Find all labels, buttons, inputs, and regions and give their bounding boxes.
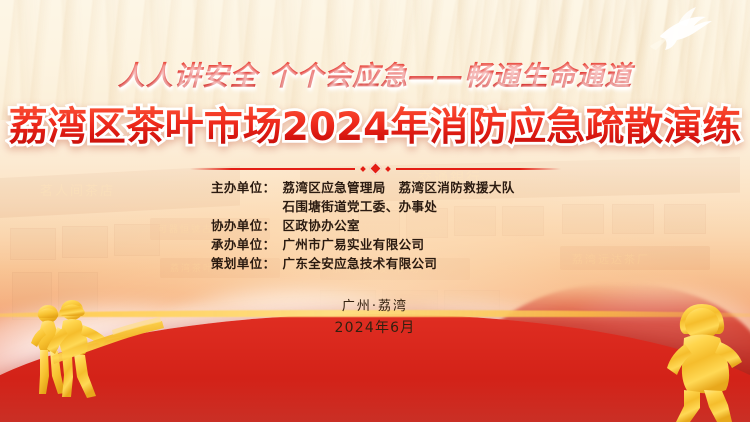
organizer-row: 协办单位： 区政协办公室 xyxy=(0,216,750,235)
organizer-value: 石围塘街道党工委、办事处 xyxy=(283,197,549,216)
organizer-label: 策划单位： xyxy=(202,254,276,273)
poster-main-title: 荔湾区茶叶市场2024年消防应急疏散演练 荔湾区茶叶市场2024年消防应急疏散演… xyxy=(0,96,750,152)
footer-block: 广州·荔湾 2024年6月 xyxy=(0,296,750,339)
organizer-row: 石围塘街道党工委、办事处 xyxy=(0,197,750,216)
poster-content: 人人讲安全 个个会应急——畅通生命通道 荔湾区茶叶市场2024年消防应急疏散演练… xyxy=(0,0,750,422)
organizer-label: 协办单位： xyxy=(202,216,276,235)
organizer-value: 荔湾区应急管理局 荔湾区消防救援大队 xyxy=(283,178,549,197)
organizer-row: 策划单位： 广东全安应急技术有限公司 xyxy=(0,254,750,273)
main-title-text: 荔湾区茶叶市场2024年消防应急疏散演练 xyxy=(9,105,742,150)
diamond-ornament-right-icon xyxy=(385,166,391,172)
organizer-value: 区政协办公室 xyxy=(283,216,549,235)
organizer-row: 承办单位： 广州市广易实业有限公司 xyxy=(0,235,750,254)
organizer-value: 广州市广易实业有限公司 xyxy=(283,235,549,254)
organizer-value: 广东全安应急技术有限公司 xyxy=(283,254,549,273)
organizer-label: 主办单位： xyxy=(202,178,276,197)
divider xyxy=(0,164,750,173)
poster-canvas: 茗人间茶店 可器恒號古茶 荔湾茶叶 交通銀行 荔湾远达茶厂 茶 叶 批 发 市 … xyxy=(0,0,750,422)
organizer-label: 承办单位： xyxy=(202,235,276,254)
poster-subtitle: 人人讲安全 个个会应急——畅通生命通道 xyxy=(0,54,750,93)
diamond-ornament-center-icon xyxy=(369,162,382,175)
divider-line-right xyxy=(396,168,561,170)
organizer-row: 主办单位： 荔湾区应急管理局 荔湾区消防救援大队 xyxy=(0,178,750,197)
organizers-block: 主办单位： 荔湾区应急管理局 荔湾区消防救援大队 石围塘街道党工委、办事处 协办… xyxy=(0,178,750,273)
footer-place: 广州·荔湾 xyxy=(0,296,750,317)
diamond-ornament-icon xyxy=(360,166,366,172)
footer-date: 2024年6月 xyxy=(0,317,750,339)
divider-line-left xyxy=(190,168,355,170)
